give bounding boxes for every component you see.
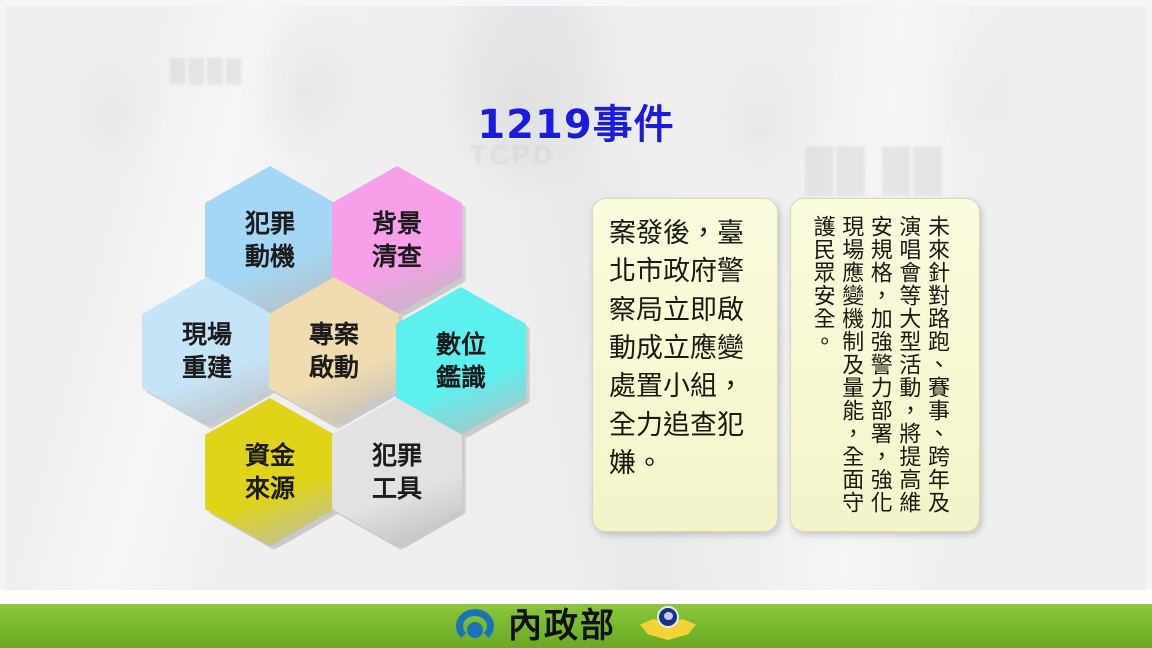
ministry-name: 內政部 <box>508 609 616 643</box>
hex-background-check-line2: 清查 <box>372 240 422 273</box>
footer-white-strip <box>0 590 1152 604</box>
hexagon-cluster: 犯罪 動機 背景 清查 現場 重建 專案 啟動 數位 鑑識 資金 來源 犯罪 工… <box>120 160 570 560</box>
slide-title: 1219事件 <box>0 92 1152 150</box>
hex-digital-forensics-line1: 數位 <box>436 328 486 361</box>
hex-digital-forensics-line2: 鑑識 <box>436 361 486 394</box>
footer-bar: 內政部 <box>0 604 1152 648</box>
hex-funding-source-line1: 資金 <box>245 439 295 472</box>
hex-crime-tools-line2: 工具 <box>372 472 422 505</box>
slide-edge-top <box>0 0 1152 6</box>
hex-scene-reconstruct-line2: 重建 <box>182 351 232 384</box>
hex-funding-source-line2: 來源 <box>245 472 295 505</box>
note-card-future-plan-text: 未來針對路跑、賽事、跨年及演唱會等大型活動，將提高維安規格，加強警力部署，強化現… <box>807 215 950 515</box>
presentation-slide: ████ TCPD ██ ██ 1219事件 犯罪 動機 背景 清查 現場 重建… <box>0 0 1152 648</box>
hex-crime-motive-line2: 動機 <box>245 240 295 273</box>
note-card-response-text: 案發後，臺北市政府警察局立即啟動成立應變處置小組，全力追查犯嫌。 <box>609 215 763 483</box>
police-emblem-icon <box>640 606 696 646</box>
hex-crime-tools-line1: 犯罪 <box>372 439 422 472</box>
note-card-response: 案發後，臺北市政府警察局立即啟動成立應變處置小組，全力追查犯嫌。 <box>592 198 778 532</box>
hex-background-check-line1: 背景 <box>372 207 422 240</box>
hex-case-launch-line1: 專案 <box>309 318 359 351</box>
hex-crime-motive-line1: 犯罪 <box>245 207 295 240</box>
hex-scene-reconstruct-line1: 現場 <box>182 318 232 351</box>
hex-case-launch-line2: 啟動 <box>309 351 359 384</box>
ministry-logo-icon <box>456 609 494 643</box>
note-card-future-plan: 未來針對路跑、賽事、跨年及演唱會等大型活動，將提高維安規格，加強警力部署，強化現… <box>790 198 980 532</box>
